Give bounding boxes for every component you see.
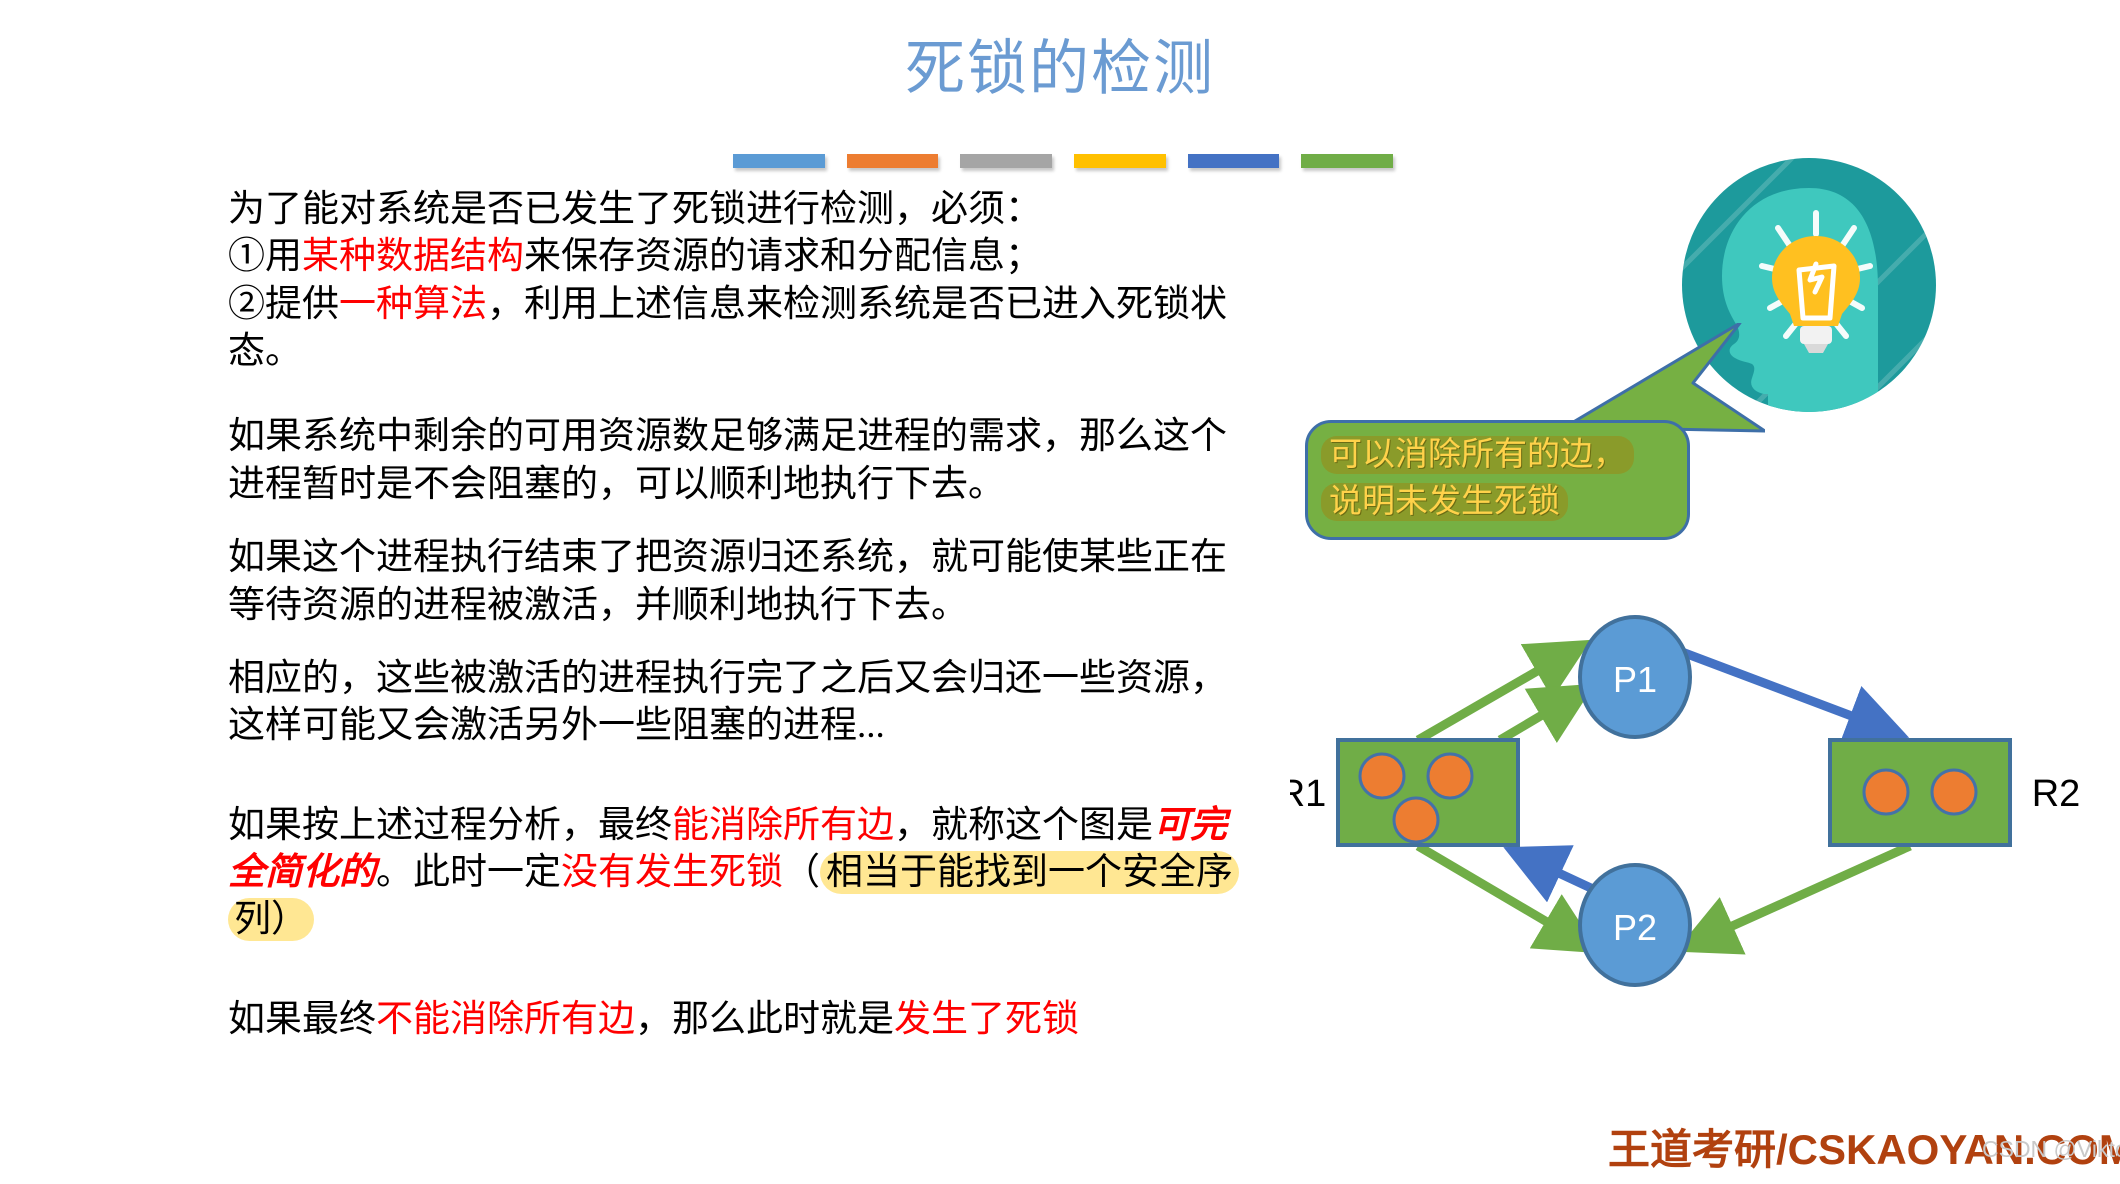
paragraph-remaining-resources: 如果系统中剩余的可用资源数足够满足进程的需求，那么这个进程暂时是不会阻塞的，可以…	[228, 413, 1238, 508]
accent-bar-gray	[960, 154, 1052, 168]
edge-r1-p1-a	[1418, 648, 1577, 740]
page-title: 死锁的检测	[0, 36, 2120, 102]
speech-bubble-line-1: 可以消除所有的边，	[1321, 432, 1673, 479]
reducible-red-1: 能消除所有边	[672, 805, 894, 846]
intro-line-3-prefix: ②提供	[228, 284, 339, 325]
deadlock-prefix: 如果最终	[228, 999, 376, 1040]
node-r2[interactable]	[1830, 740, 2010, 845]
speech-bubble-line-1-text: 可以消除所有的边，	[1321, 436, 1634, 474]
paragraph-intro: 为了能对系统是否已发生了死锁进行检测，必须： ①用某种数据结构来保存资源的请求和…	[228, 186, 1238, 375]
reducible-prefix: 如果按上述过程分析，最终	[228, 805, 672, 846]
body-text-block: 为了能对系统是否已发生了死锁进行检测，必须： ①用某种数据结构来保存资源的请求和…	[228, 186, 1238, 1043]
paragraph-deadlock-occurred: 如果最终不能消除所有边，那么此时就是发生了死锁	[228, 996, 1238, 1043]
accent-bar-group	[733, 154, 1393, 168]
node-p2[interactable]: P2	[1580, 865, 1690, 985]
node-r2-label: R2	[2032, 773, 2081, 815]
reducible-paren: （	[783, 852, 820, 893]
paragraph-release-resources: 如果这个进程执行结束了把资源归还系统，就可能使某些正在等待资源的进程被激活，并顺…	[228, 534, 1238, 629]
reducible-mid: ，就称这个图是	[894, 805, 1153, 846]
reducible-red-2: 没有发生死锁	[561, 852, 783, 893]
footer-watermark: CSDN @Viktoriae	[1982, 1136, 2120, 1163]
node-r1-label: R1	[1290, 773, 1326, 815]
speech-bubble-line-2: 说明未发生死锁	[1321, 479, 1673, 526]
speech-bubble: 可以消除所有的边， 说明未发生死锁	[1305, 420, 1690, 540]
deadlock-red-2: 发生了死锁	[894, 999, 1079, 1040]
paragraph-cascade-activation: 相应的，这些被激活的进程执行完了之后又会归还一些资源，这样可能又会激活另外一些阻…	[228, 655, 1238, 750]
edge-r1-p1-b	[1500, 692, 1581, 740]
accent-bar-green	[1301, 154, 1393, 168]
paragraph-fully-reducible: 如果按上述过程分析，最终能消除所有边，就称这个图是可完全简化的。此时一定没有发生…	[228, 802, 1238, 944]
speech-bubble-line-2-text: 说明未发生死锁	[1321, 483, 1568, 521]
intro-line-2-highlight: 某种数据结构	[302, 236, 524, 277]
node-p1-label: P1	[1613, 659, 1657, 700]
speech-bubble-tail	[1565, 323, 1765, 433]
edge-p1-r2	[1682, 652, 1894, 732]
intro-line-2-suffix: 来保存资源的请求和分配信息；	[524, 236, 1042, 277]
slide-canvas: 死锁的检测 为了能对系统是否已发生了死锁进行检测，必须： ①用某种数据结构来保存…	[0, 0, 2120, 1184]
accent-bar-gold	[1074, 154, 1166, 168]
intro-line-3: ②提供一种算法，利用上述信息来检测系统是否已进入死锁状态。	[228, 281, 1238, 376]
intro-line-2: ①用某种数据结构来保存资源的请求和分配信息；	[228, 233, 1238, 280]
accent-bar-orange	[847, 154, 939, 168]
edge-r2-p2	[1690, 846, 1910, 945]
accent-bar-blue	[1188, 154, 1280, 168]
resource-allocation-graph: R1 R2 P1 P2	[1290, 580, 2120, 1020]
intro-line-3-highlight: 一种算法	[339, 284, 487, 325]
reducible-mid-2: 。此时一定	[376, 852, 561, 893]
node-r1[interactable]	[1338, 740, 1518, 845]
deadlock-mid: ，那么此时就是	[635, 999, 894, 1040]
node-p2-label: P2	[1613, 907, 1657, 948]
accent-bar-light-blue	[733, 154, 825, 168]
speech-bubble-text: 可以消除所有的边， 说明未发生死锁	[1321, 432, 1673, 526]
edge-r1-p2	[1418, 846, 1586, 945]
intro-line-1: 为了能对系统是否已发生了死锁进行检测，必须：	[228, 186, 1238, 233]
node-p1[interactable]: P1	[1580, 617, 1690, 737]
deadlock-red-1: 不能消除所有边	[376, 999, 635, 1040]
intro-line-2-prefix: ①用	[228, 236, 302, 277]
